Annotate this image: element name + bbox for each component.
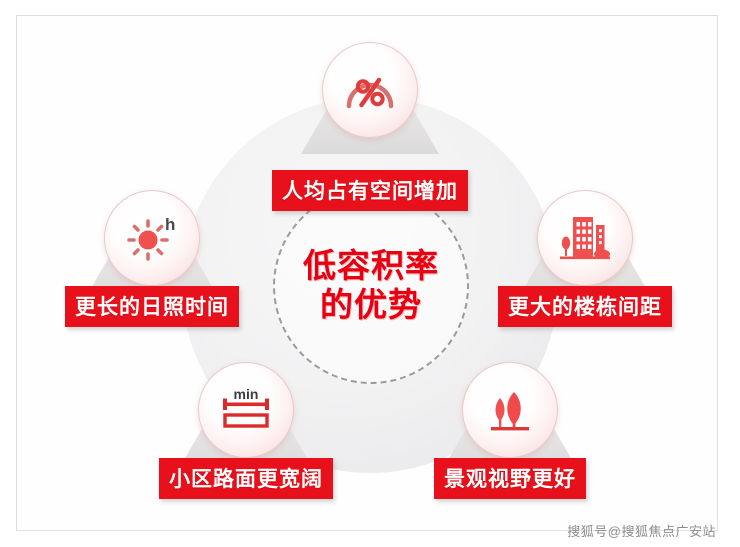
- bubble-circle: h: [104, 190, 200, 286]
- road-width-min-icon: min: [217, 385, 275, 435]
- bubble-circle: [322, 42, 418, 138]
- trees-landscape-icon: [482, 385, 538, 435]
- watermark: 搜狐号@搜狐焦点广安站: [567, 521, 716, 540]
- sun-hours-icon: h: [123, 212, 181, 264]
- node-label-banner[interactable]: 景观视野更好: [434, 458, 586, 499]
- node-label-banner[interactable]: 人均占有空间增加: [272, 170, 468, 211]
- core-title: 低容积率 的优势: [273, 188, 469, 384]
- node-label-banner[interactable]: 更长的日照时间: [65, 286, 239, 327]
- road-width-min-icon-text: min: [234, 386, 259, 402]
- bubble-circle: [462, 362, 558, 458]
- buildings-spacing-icon: [557, 211, 613, 265]
- core-title-line2: 的优势: [320, 286, 422, 325]
- node-label-banner[interactable]: 更大的楼栋间距: [498, 286, 672, 327]
- infographic-canvas: 低容积率 的优势 人均占有空间增加: [0, 0, 740, 547]
- core-title-line1: 低容积率: [303, 247, 439, 286]
- sun-hours-icon-text: h: [165, 215, 175, 234]
- bubble-circle: [537, 190, 633, 286]
- bubble-circle: min: [198, 362, 294, 458]
- node-label-banner[interactable]: 小区路面更宽阔: [159, 458, 333, 499]
- percent-gauge-icon: [343, 66, 397, 114]
